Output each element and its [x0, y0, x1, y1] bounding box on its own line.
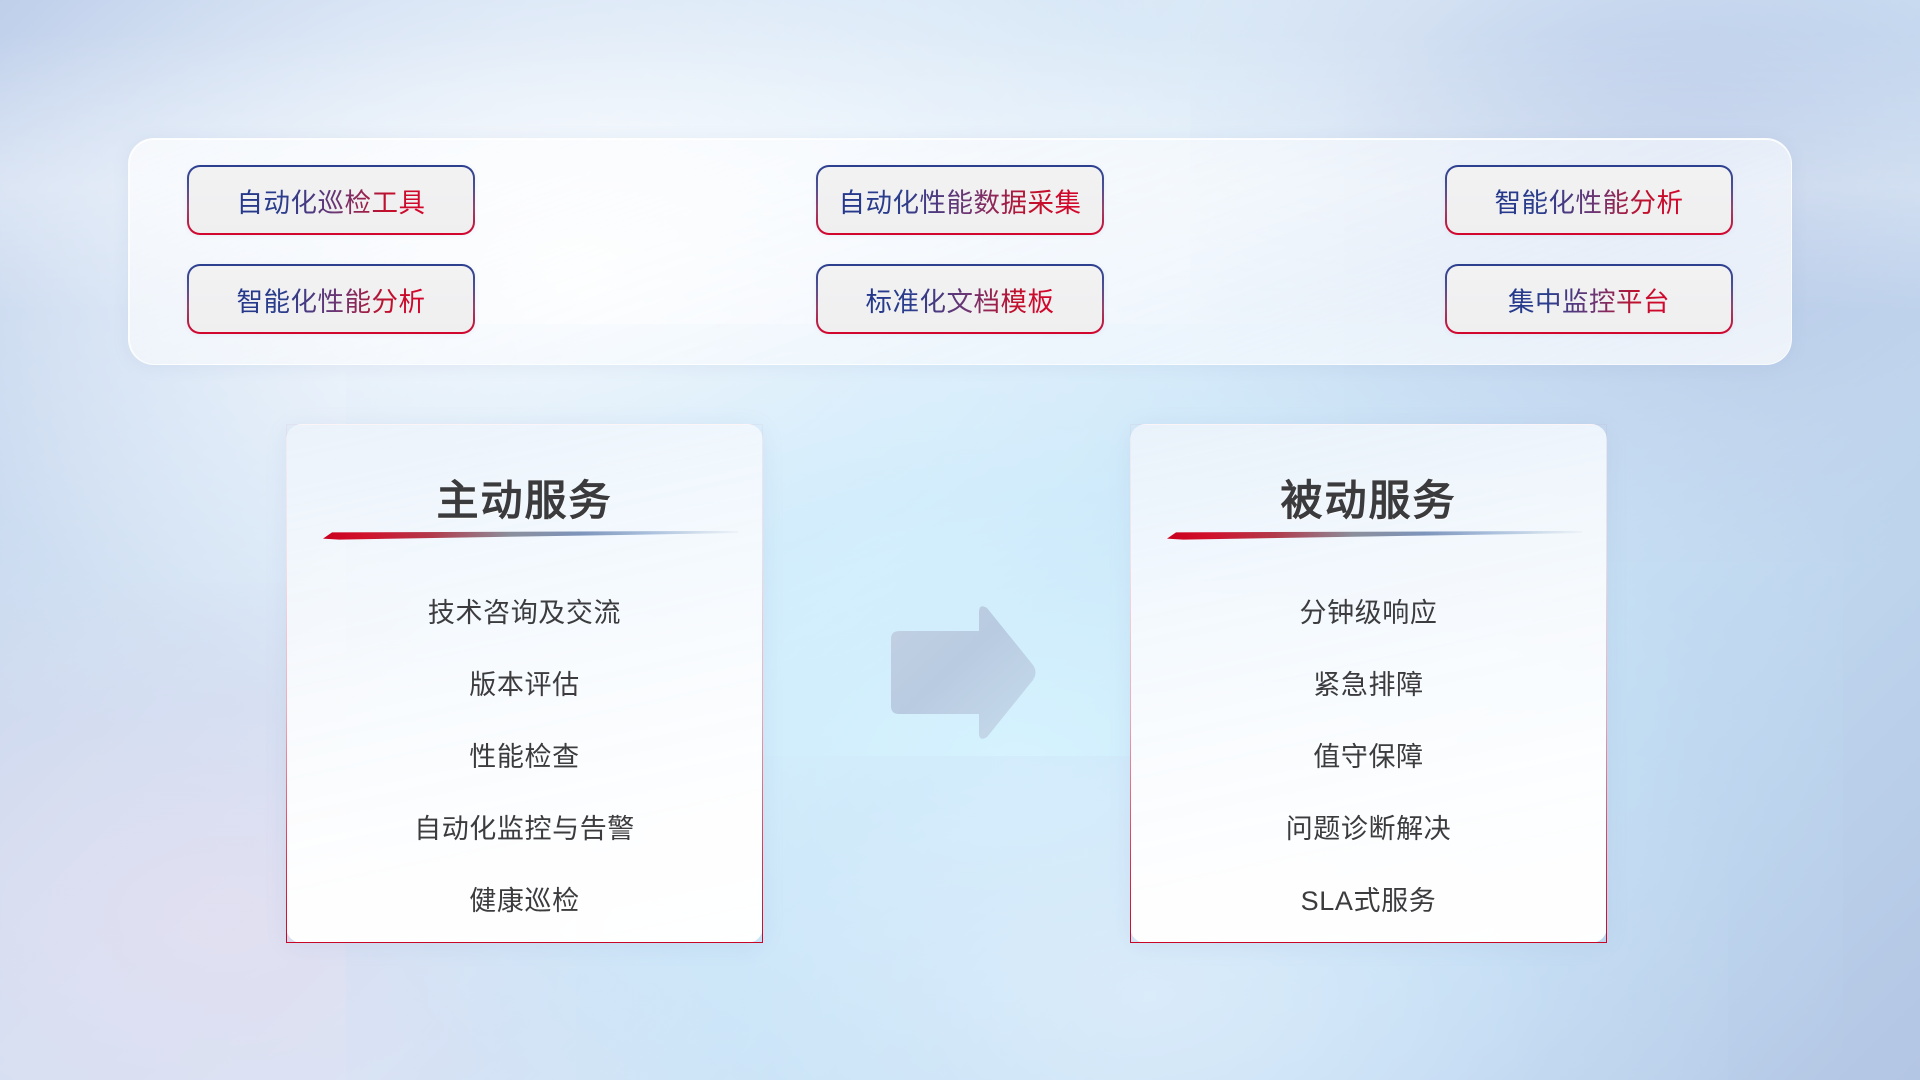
card-title-proactive: 主动服务	[287, 467, 762, 528]
capability-pill-label: 自动化巡检工具	[237, 181, 426, 220]
list-item: SLA式服务	[1301, 865, 1437, 937]
list-item: 值守保障	[1313, 721, 1423, 793]
capability-pill-intelligent-performance-analysis-2[interactable]: 智能化性能分析	[187, 264, 475, 334]
list-item: 分钟级响应	[1300, 577, 1438, 649]
capability-pill-centralized-monitoring-platform[interactable]: 集中监控平台	[1445, 264, 1733, 334]
list-item: 问题诊断解决	[1286, 793, 1452, 865]
list-item: 技术咨询及交流	[428, 577, 621, 649]
service-card-reactive: 被动服务 分钟级响应 紧急排障 值守保障 问题诊断解决 SLA式	[1130, 424, 1607, 943]
capability-pill-label: 智能化性能分析	[237, 280, 426, 319]
list-item: 健康巡检	[469, 865, 579, 937]
service-list-reactive: 分钟级响应 紧急排障 值守保障 问题诊断解决 SLA式服务	[1131, 577, 1606, 937]
list-item: 性能检查	[469, 721, 579, 793]
card-divider-proactive	[323, 529, 738, 541]
card-title-reactive: 被动服务	[1131, 467, 1606, 528]
capability-pill-label: 标准化文档模板	[866, 280, 1055, 319]
list-item: 自动化监控与告警	[414, 793, 635, 865]
capabilities-panel: 自动化巡检工具 自动化性能数据采集 智能化性能分析 智能化性能分析 标准化文档模…	[128, 138, 1792, 365]
capability-pill-automated-performance-data-collection[interactable]: 自动化性能数据采集	[816, 165, 1104, 235]
card-divider-reactive	[1167, 529, 1582, 541]
capability-pill-label: 智能化性能分析	[1495, 181, 1684, 220]
service-card-proactive: 主动服务 技术咨询及交流 版本评估 性能检查 自动化监控与告警	[286, 424, 763, 943]
list-item: 版本评估	[469, 649, 579, 721]
arrow-right-icon	[883, 603, 1038, 742]
capability-pill-label: 自动化性能数据采集	[839, 181, 1082, 220]
capability-pill-automated-inspection-tool[interactable]: 自动化巡检工具	[187, 165, 475, 235]
capability-pill-intelligent-performance-analysis-1[interactable]: 智能化性能分析	[1445, 165, 1733, 235]
capability-pill-standardized-document-template[interactable]: 标准化文档模板	[816, 264, 1104, 334]
capability-pill-label: 集中监控平台	[1508, 280, 1670, 319]
service-list-proactive: 技术咨询及交流 版本评估 性能检查 自动化监控与告警 健康巡检	[287, 577, 762, 937]
capabilities-grid: 自动化巡检工具 自动化性能数据采集 智能化性能分析 智能化性能分析 标准化文档模…	[187, 165, 1733, 334]
list-item: 紧急排障	[1313, 649, 1423, 721]
